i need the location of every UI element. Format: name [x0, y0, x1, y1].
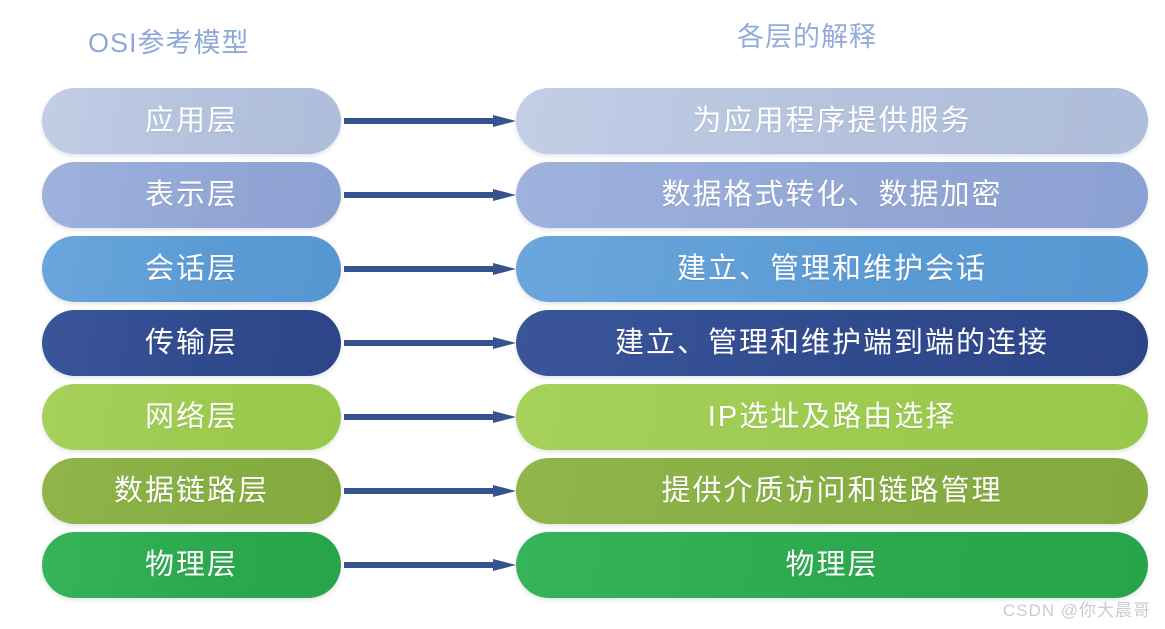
description-pill-label: IP选址及路由选择: [708, 403, 956, 432]
right-arrow-icon: [344, 189, 516, 201]
arrow-shaft: [344, 266, 493, 272]
arrow-shaft: [344, 118, 493, 124]
description-pill-application[interactable]: 为应用程序提供服务: [516, 88, 1148, 154]
description-pill-physical[interactable]: 物理层: [516, 532, 1148, 598]
right-arrow-icon: [344, 411, 516, 423]
osi-model-diagram: OSI参考模型 各层的解释 应用层 为应用程序提供服务 表示层 数据格式转化、数…: [0, 0, 1165, 629]
layer-pill-label: 物理层: [145, 551, 238, 580]
layer-pill-label: 数据链路层: [114, 477, 269, 506]
description-pill-session[interactable]: 建立、管理和维护会话: [516, 236, 1148, 302]
description-pill-label: 物理层: [785, 551, 878, 580]
watermark: CSDN @你大晨哥: [1003, 596, 1151, 621]
arrow-shaft: [344, 192, 493, 198]
arrow-shaft: [344, 340, 493, 346]
layer-pill-label: 网络层: [145, 403, 238, 432]
layer-row: 会话层 建立、管理和维护会话: [0, 236, 1165, 302]
description-pill-label: 建立、管理和维护会话: [677, 255, 987, 284]
layer-pill-application[interactable]: 应用层: [42, 88, 341, 154]
arrow-shaft: [344, 562, 493, 568]
right-arrow-icon: [344, 485, 516, 497]
arrow-head: [493, 559, 516, 571]
description-pill-data-link[interactable]: 提供介质访问和链路管理: [516, 458, 1148, 524]
layer-row: 传输层 建立、管理和维护端到端的连接: [0, 310, 1165, 376]
arrow-shaft: [344, 414, 493, 420]
layer-pill-label: 传输层: [145, 329, 238, 358]
description-pill-label: 数据格式转化、数据加密: [661, 181, 1002, 210]
description-pill-label: 为应用程序提供服务: [692, 107, 971, 136]
description-pill-label: 建立、管理和维护端到端的连接: [615, 329, 1049, 358]
layer-row: 数据链路层 提供介质访问和链路管理: [0, 458, 1165, 524]
right-arrow-icon: [344, 115, 516, 127]
arrow-head: [493, 337, 516, 349]
right-column-heading: 各层的解释: [737, 24, 877, 51]
arrow-head: [493, 263, 516, 275]
arrow-head: [493, 115, 516, 127]
arrow-head: [493, 189, 516, 201]
layer-pill-transport[interactable]: 传输层: [42, 310, 341, 376]
layer-pill-label: 表示层: [145, 181, 238, 210]
layer-pill-network[interactable]: 网络层: [42, 384, 341, 450]
layer-pill-presentation[interactable]: 表示层: [42, 162, 341, 228]
layer-row: 网络层 IP选址及路由选择: [0, 384, 1165, 450]
layer-pill-label: 应用层: [145, 107, 238, 136]
right-arrow-icon: [344, 263, 516, 275]
layer-pill-physical[interactable]: 物理层: [42, 532, 341, 598]
description-pill-transport[interactable]: 建立、管理和维护端到端的连接: [516, 310, 1148, 376]
description-pill-network[interactable]: IP选址及路由选择: [516, 384, 1148, 450]
arrow-head: [493, 411, 516, 423]
layer-pill-data-link[interactable]: 数据链路层: [42, 458, 341, 524]
description-pill-presentation[interactable]: 数据格式转化、数据加密: [516, 162, 1148, 228]
layer-pill-label: 会话层: [145, 255, 238, 284]
layer-row: 表示层 数据格式转化、数据加密: [0, 162, 1165, 228]
description-pill-label: 提供介质访问和链路管理: [661, 477, 1002, 506]
left-column-heading: OSI参考模型: [88, 30, 250, 57]
arrow-head: [493, 485, 516, 497]
layer-row: 物理层 物理层: [0, 532, 1165, 598]
right-arrow-icon: [344, 337, 516, 349]
right-arrow-icon: [344, 559, 516, 571]
layer-pill-session[interactable]: 会话层: [42, 236, 341, 302]
layer-row: 应用层 为应用程序提供服务: [0, 88, 1165, 154]
arrow-shaft: [344, 488, 493, 494]
